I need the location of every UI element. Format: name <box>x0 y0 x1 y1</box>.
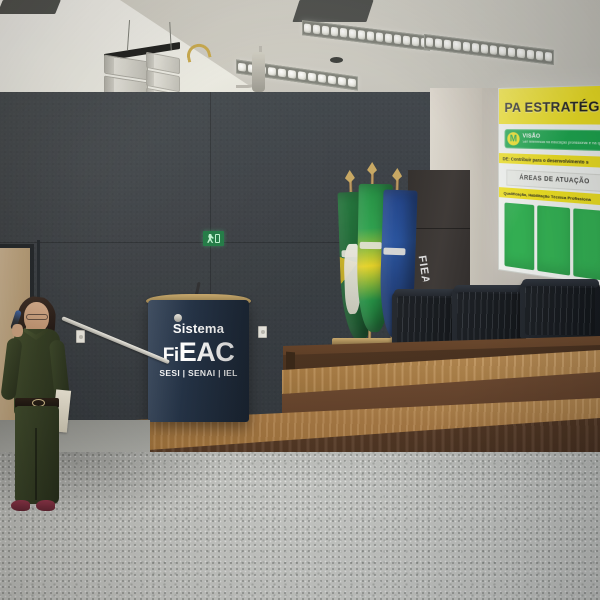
presentation-slide: PA ESTRATÉGIC M VISÃO Ser referência na … <box>498 84 600 287</box>
projection-screen: PA ESTRATÉGIC M VISÃO Ser referência na … <box>498 84 600 287</box>
speaker-shoe-left <box>11 500 30 511</box>
slide-title: PA ESTRATÉGIC <box>499 86 600 125</box>
hanging-cable <box>252 52 265 92</box>
ceiling-access-panel <box>292 0 373 22</box>
ceiling-access-panel-2 <box>0 0 61 14</box>
slide-column-3 <box>573 208 600 281</box>
speaker-legs <box>15 406 59 504</box>
flag-band <box>383 248 405 256</box>
vision-badge-icon: M <box>507 132 519 145</box>
slide-column-1 <box>504 203 534 271</box>
wall-socket-1[interactable] <box>76 330 85 343</box>
auditorium-photo: PA ESTRATÉGIC M VISÃO Ser referência na … <box>0 0 600 600</box>
slide-mission-text: DE: Contribuir para o desenvolvimento s <box>499 153 600 168</box>
slide-columns <box>504 203 600 282</box>
ceiling-speaker-icon <box>330 57 343 63</box>
handrail-end-cap <box>174 314 182 322</box>
exit-sign-icon <box>203 231 224 246</box>
speaker-glasses-icon <box>26 314 48 320</box>
wall-socket-2[interactable] <box>258 326 267 338</box>
slide-column-2 <box>538 205 570 275</box>
stage-chair[interactable] <box>452 288 526 344</box>
slide-vision-text: Ser referência na educação profissional … <box>523 140 600 148</box>
speaker-hand <box>12 324 23 337</box>
stage-chair[interactable] <box>520 282 600 338</box>
speaker-shoe-right <box>36 500 55 511</box>
slide-vision-box: M VISÃO Ser referência na educação profi… <box>504 129 600 151</box>
speaker-person <box>2 302 72 514</box>
